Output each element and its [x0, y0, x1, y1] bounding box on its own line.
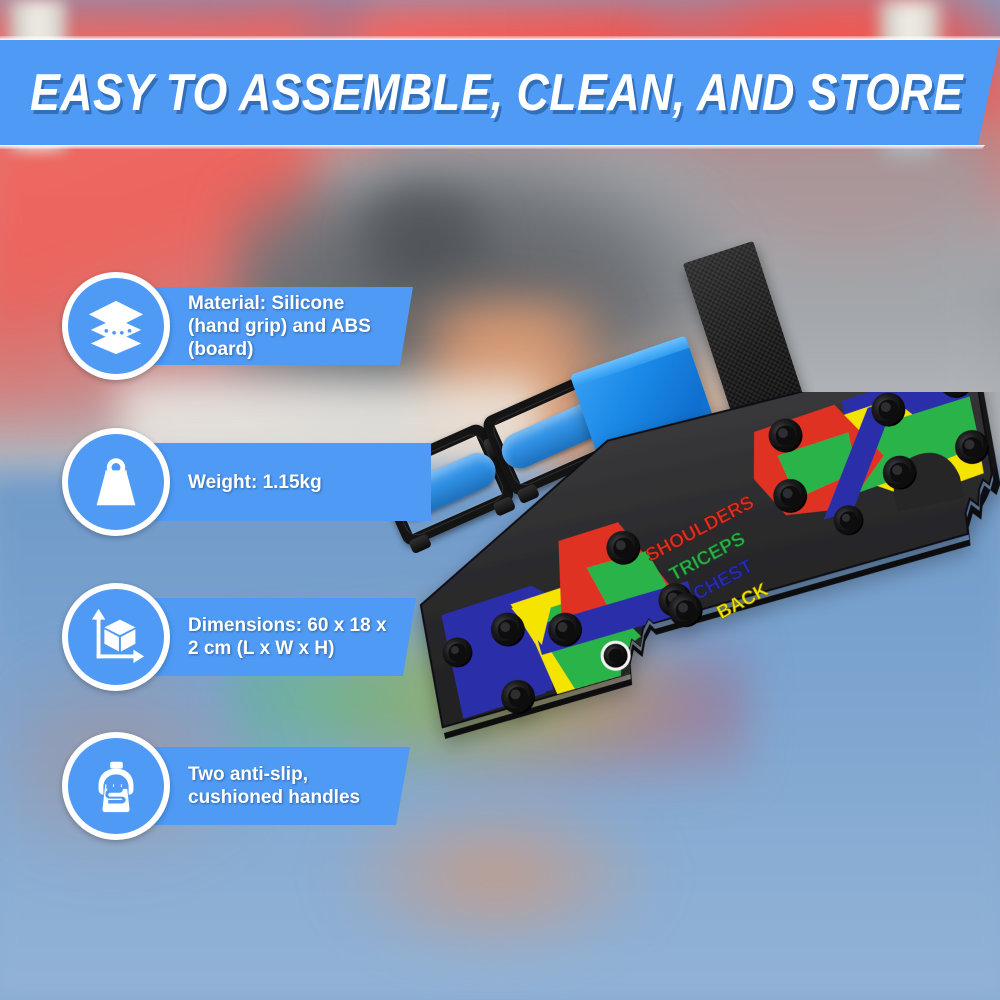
- dimensions-box-icon: [62, 583, 170, 691]
- feature-weight-text: Weight: 1.15kg: [188, 471, 322, 494]
- feature-handles-text: Two anti-slip, cushioned handles: [188, 763, 392, 809]
- feature-handles-ribbon: Two anti-slip, cushioned handles: [148, 747, 410, 825]
- layers-icon: [62, 272, 170, 380]
- feature-weight: Weight: 1.15kg: [62, 428, 431, 536]
- banner-title: EASY TO ASSEMBLE, CLEAN, AND STORE: [70, 40, 930, 145]
- feature-dimensions-text: Dimensions: 60 x 18 x 2 cm (L x W x H): [188, 614, 398, 660]
- push-up-board: SHOULDERS TRICEPS CHEST BACK: [398, 392, 1000, 812]
- feature-material-text: Material: Silicone (hand grip) and ABS (…: [188, 292, 395, 361]
- feature-dimensions: Dimensions: 60 x 18 x 2 cm (L x W x H): [62, 583, 416, 691]
- banner-bottom-rule: [0, 145, 985, 149]
- feature-material-ribbon: Material: Silicone (hand grip) and ABS (…: [148, 287, 413, 365]
- weight-icon: [62, 428, 170, 536]
- feature-dimensions-ribbon: Dimensions: 60 x 18 x 2 cm (L x W x H): [148, 598, 416, 676]
- feature-material: Material: Silicone (hand grip) and ABS (…: [62, 272, 413, 380]
- header-banner: EASY TO ASSEMBLE, CLEAN, AND STORE: [0, 40, 1000, 145]
- feature-weight-ribbon: Weight: 1.15kg: [148, 443, 431, 521]
- product-infographic: EASY TO ASSEMBLE, CLEAN, AND STORE Mater…: [0, 0, 1000, 1000]
- board-graphic: SHOULDERS TRICEPS CHEST BACK: [398, 392, 1000, 812]
- hand-grip-icon: [62, 732, 170, 840]
- board-body: SHOULDERS TRICEPS CHEST BACK: [398, 392, 1000, 739]
- feature-handles: Two anti-slip, cushioned handles: [62, 732, 410, 840]
